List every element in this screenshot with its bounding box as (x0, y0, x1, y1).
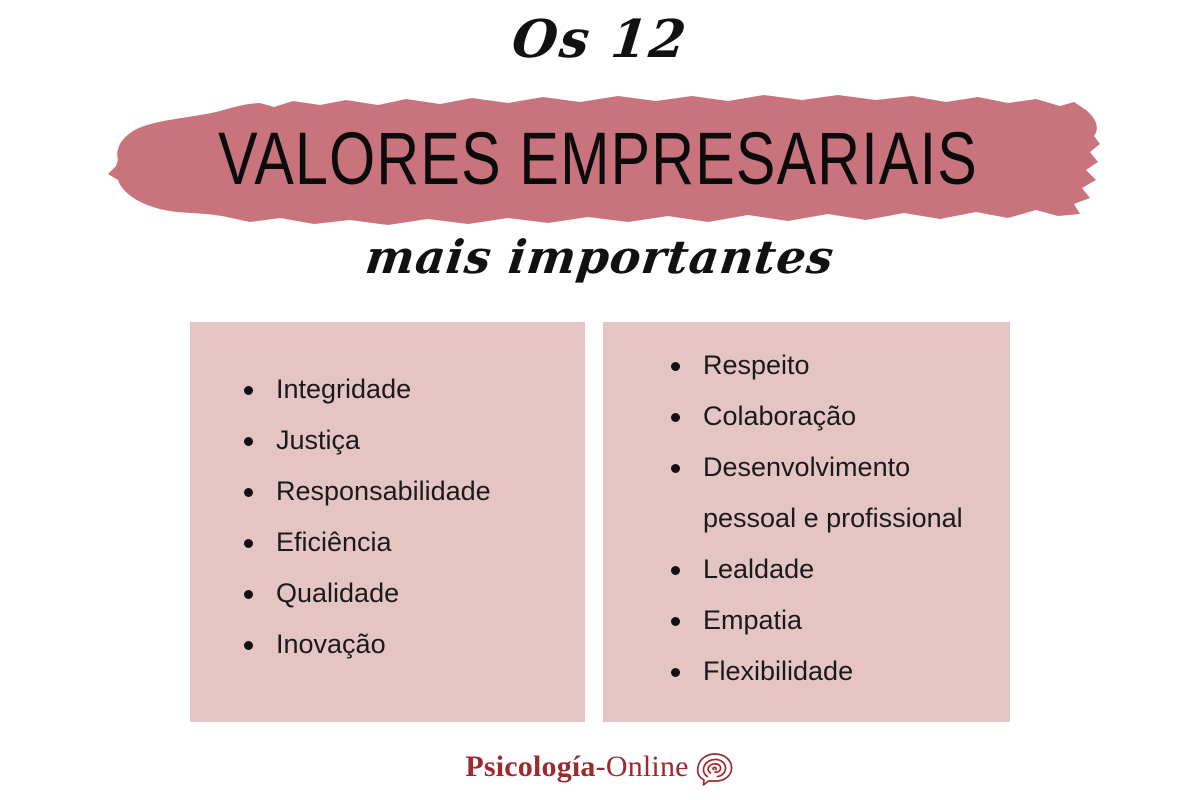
values-box-left: Integridade Justiça Responsabilidade Efi… (190, 322, 585, 722)
list-item: Lealdade (669, 544, 999, 595)
logo-text-primary: Psicología (465, 750, 595, 783)
list-item: Colaboração (669, 391, 999, 442)
page-title: VALORES EMPRESARIAIS (190, 88, 1006, 228)
values-box-right: Respeito Colaboração Desenvolvimento pes… (603, 322, 1010, 722)
values-columns: Integridade Justiça Responsabilidade Efi… (190, 322, 1010, 722)
values-list-right: Respeito Colaboração Desenvolvimento pes… (669, 340, 999, 697)
eyebrow-count: Os 12 (0, 14, 1200, 66)
list-item: Eficiência (242, 517, 572, 568)
list-item: Integridade (242, 364, 572, 415)
list-item: Empatia (669, 595, 999, 646)
title-banner: VALORES EMPRESARIAIS (88, 88, 1108, 228)
logo-wordmark: Psicología-Online (465, 752, 688, 782)
logo-text-secondary: -Online (596, 750, 689, 783)
list-item: Respeito (669, 340, 999, 391)
list-item: Responsabilidade (242, 466, 572, 517)
list-item: Flexibilidade (669, 646, 999, 697)
site-logo[interactable]: Psicología-Online (0, 748, 1200, 786)
page-subtitle: mais importantes (0, 232, 1200, 283)
brain-icon (695, 750, 735, 786)
list-item: Inovação (242, 619, 572, 670)
list-item: Qualidade (242, 568, 572, 619)
list-item: Justiça (242, 415, 572, 466)
values-list-left: Integridade Justiça Responsabilidade Efi… (242, 364, 572, 670)
list-item: Desenvolvimento pessoal e profissional (669, 442, 999, 544)
